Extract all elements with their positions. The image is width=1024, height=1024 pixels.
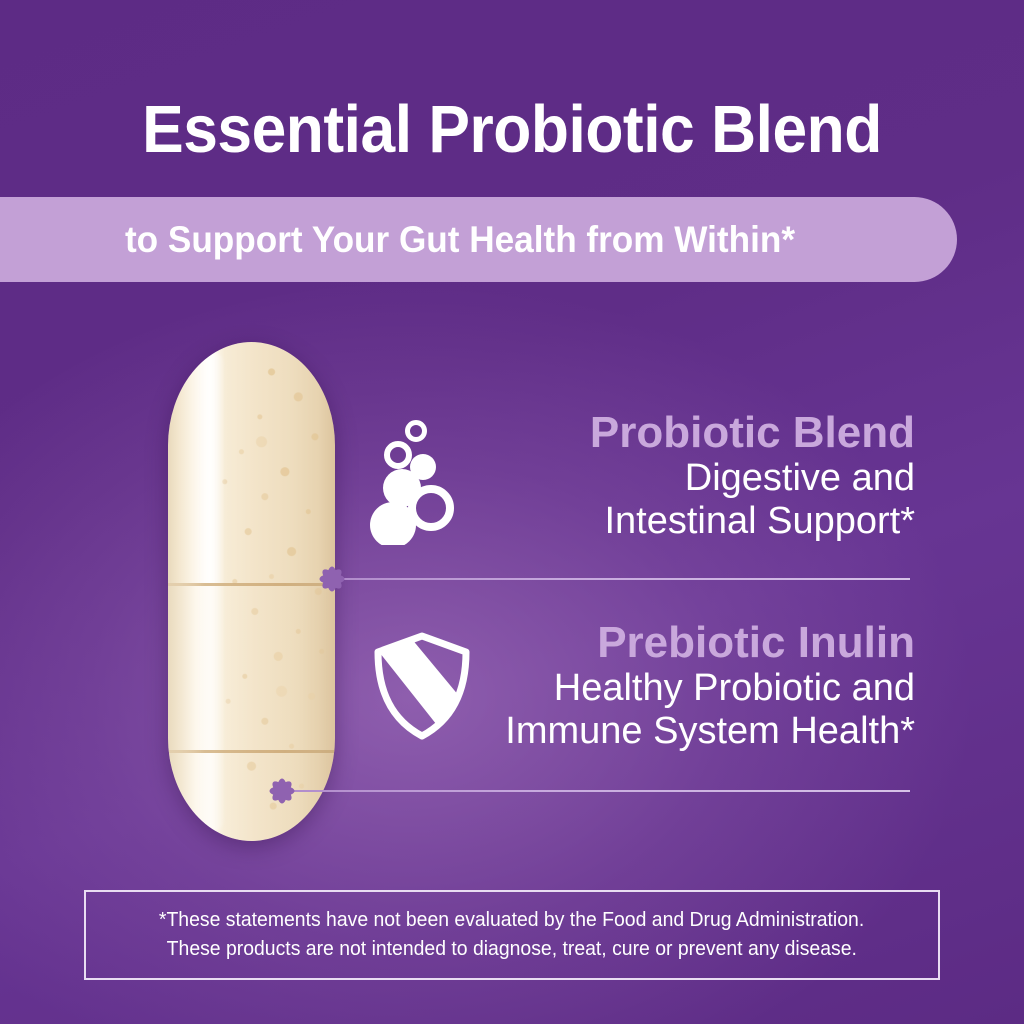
feature-sub-line-1-prebiotic-inulin: Healthy Probiotic and xyxy=(355,667,915,710)
subtitle-text: to Support Your Gut Health from Within* xyxy=(23,197,897,282)
feature-heading-probiotic-blend: Probiotic Blend xyxy=(355,410,915,457)
feature-heading-prebiotic-inulin: Prebiotic Inulin xyxy=(355,620,915,667)
subtitle-banner: to Support Your Gut Health from Within* xyxy=(0,197,957,282)
feature-prebiotic-inulin: Prebiotic Inulin Healthy Probiotic and I… xyxy=(370,620,915,770)
capsule-highlight xyxy=(195,352,227,831)
connector-line-2 xyxy=(288,790,910,792)
disclaimer-line-1: *These statements have not been evaluate… xyxy=(159,906,864,935)
disclaimer-line-2: These products are not intended to diagn… xyxy=(167,935,857,964)
infographic-canvas: Essential Probiotic Blend to Support You… xyxy=(0,0,1024,1024)
page-title: Essential Probiotic Blend xyxy=(36,96,988,163)
feature-sub-line-2-prebiotic-inulin: Immune System Health* xyxy=(355,710,915,753)
feature-text-probiotic-blend: Probiotic Blend Digestive and Intestinal… xyxy=(355,410,915,543)
capsule-joint-lower xyxy=(168,750,335,753)
connector-line-1 xyxy=(336,578,910,580)
feature-sub-line-1-probiotic-blend: Digestive and xyxy=(355,457,915,500)
feature-sub-line-2-probiotic-blend: Intestinal Support* xyxy=(355,500,915,543)
asterisk-marker-2 xyxy=(258,767,306,815)
disclaimer-box: *These statements have not been evaluate… xyxy=(84,890,940,980)
feature-probiotic-blend: Probiotic Blend Digestive and Intestinal… xyxy=(370,410,915,560)
feature-text-prebiotic-inulin: Prebiotic Inulin Healthy Probiotic and I… xyxy=(355,620,915,753)
asterisk-marker-1 xyxy=(308,555,356,603)
